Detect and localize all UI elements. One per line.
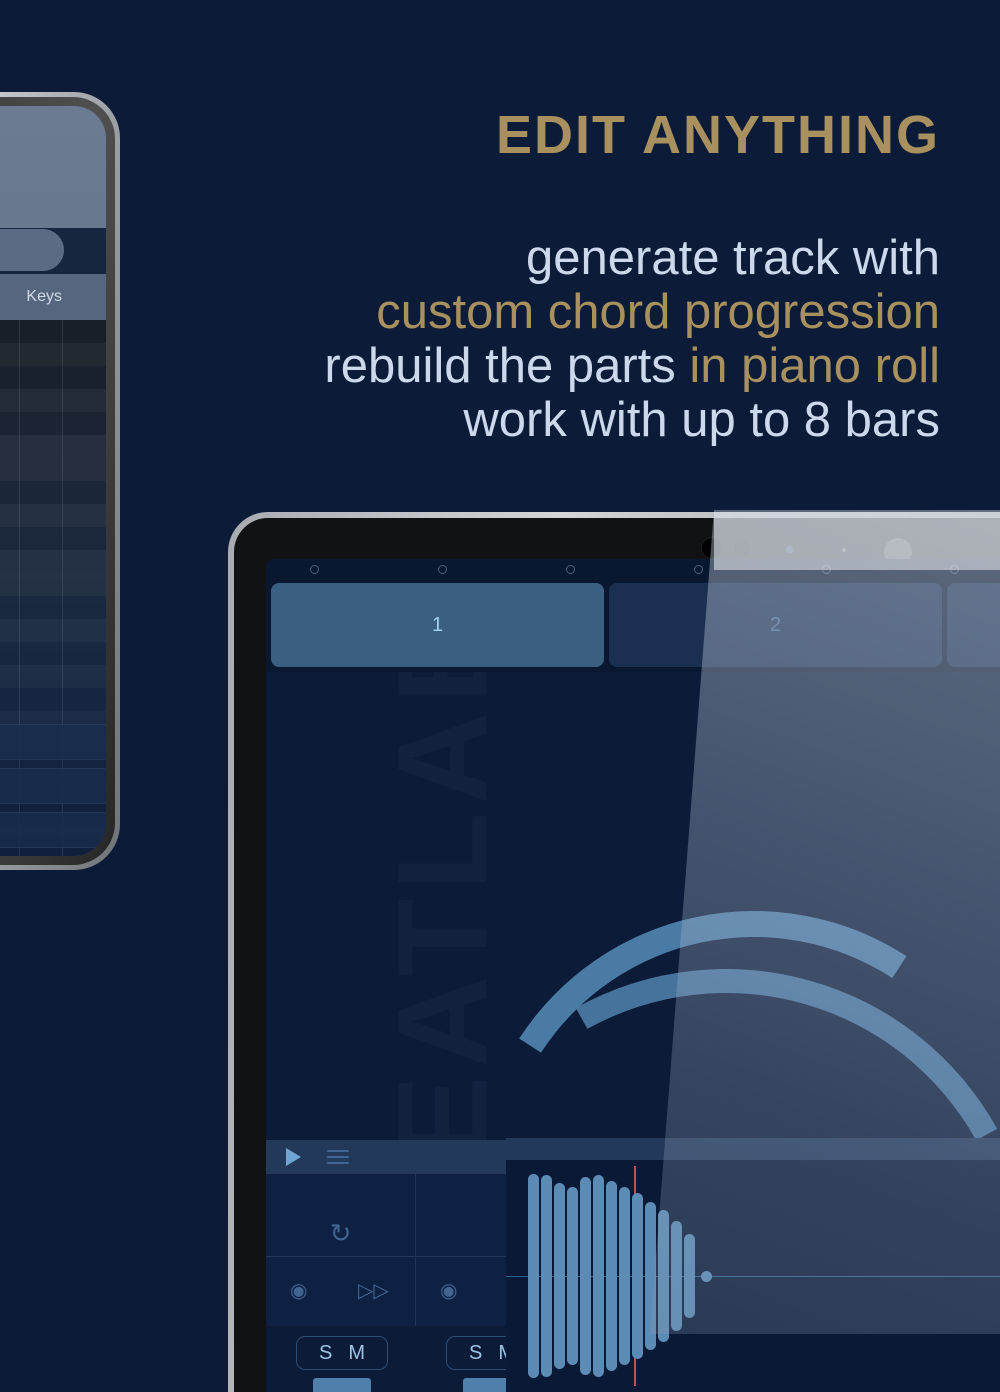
bar-tick-marker <box>566 565 575 574</box>
left-tablet-screen: ∞ ❐ Keys <box>0 106 106 856</box>
waveform-handle-icon[interactable] <box>701 1271 712 1282</box>
volume-fader-1[interactable] <box>313 1378 371 1392</box>
waveform-bar <box>671 1221 682 1331</box>
marketing-segment-3-1: rebuild the parts <box>324 339 689 393</box>
waveform-bar <box>593 1175 604 1376</box>
waveform-bar <box>554 1183 565 1370</box>
instrument-icon[interactable]: ◉ <box>440 1278 457 1303</box>
bar-cell-row[interactable]: 1234 <box>271 583 1000 667</box>
solo-mute-buttons-1[interactable]: S M <box>296 1336 388 1370</box>
piano-roll-clip[interactable] <box>0 768 106 804</box>
marketing-segment-3-2: in piano roll <box>689 339 940 393</box>
piano-roll-clip[interactable] <box>0 724 106 760</box>
marketing-line-3: rebuild the parts in piano roll <box>40 340 940 394</box>
piano-roll-clip[interactable] <box>0 812 106 848</box>
marketing-subcopy: generate track withcustom chord progress… <box>40 232 940 448</box>
waveform-bar <box>567 1187 578 1365</box>
hamburger-menu-icon[interactable] <box>327 1146 349 1168</box>
marketing-line-1: generate track with <box>40 232 940 286</box>
waveform-bar <box>580 1177 591 1374</box>
marketing-line-2: custom chord progression <box>40 286 940 340</box>
play-icon[interactable] <box>286 1148 301 1166</box>
screen-glare-top <box>714 512 1000 570</box>
waveform-bar <box>645 1202 656 1350</box>
main-tablet-screen: BEATLAB 1234 ↻ ◉ ▷▷ ◉ <box>266 559 1000 1392</box>
bar-cell-1[interactable]: 1 <box>271 583 604 667</box>
waveform-canvas[interactable] <box>506 1160 1000 1392</box>
waveform-bar <box>541 1175 552 1376</box>
marketing-line-4: work with up to 8 bars <box>40 394 940 448</box>
page-title: EDIT ANYTHING <box>0 108 940 162</box>
waveform-bar <box>528 1174 539 1378</box>
refresh-icon[interactable]: ↻ <box>330 1218 352 1249</box>
marketing-segment-4-1: work with up to 8 bars <box>463 393 940 447</box>
main-tablet-device: BEATLAB 1234 ↻ ◉ ▷▷ ◉ <box>228 512 1000 1392</box>
instrument-icon[interactable]: ◉ <box>290 1278 307 1303</box>
waveform-panel-header <box>506 1138 1000 1160</box>
bar-tick-marker <box>694 565 703 574</box>
bar-selector-strip: 1234 <box>266 559 1000 672</box>
marketing-segment-1-1: generate track with <box>526 231 940 285</box>
channel-strip-1[interactable]: ↻ ◉ ▷▷ <box>266 1174 416 1326</box>
solo-button-2[interactable]: S <box>469 1342 482 1365</box>
fast-forward-icon[interactable]: ▷▷ <box>358 1278 389 1303</box>
left-tablet-device: ∞ ❐ Keys <box>0 92 120 870</box>
mute-button-1[interactable]: M <box>348 1342 365 1365</box>
waveform-bar <box>619 1187 630 1365</box>
waveform-bar <box>684 1234 695 1319</box>
bar-cell-3[interactable]: 3 <box>947 583 1000 667</box>
solo-button-1[interactable]: S <box>319 1342 332 1365</box>
waveform-editor-panel[interactable] <box>506 1138 1000 1392</box>
channel-divider <box>266 1256 415 1257</box>
marketing-segment-2-1: custom chord progression <box>376 285 940 339</box>
waveform-bar <box>658 1210 669 1341</box>
bar-tick-marker <box>310 565 319 574</box>
waveform-bar <box>606 1181 617 1372</box>
bar-cell-2[interactable]: 2 <box>609 583 942 667</box>
bar-tick-marker <box>438 565 447 574</box>
